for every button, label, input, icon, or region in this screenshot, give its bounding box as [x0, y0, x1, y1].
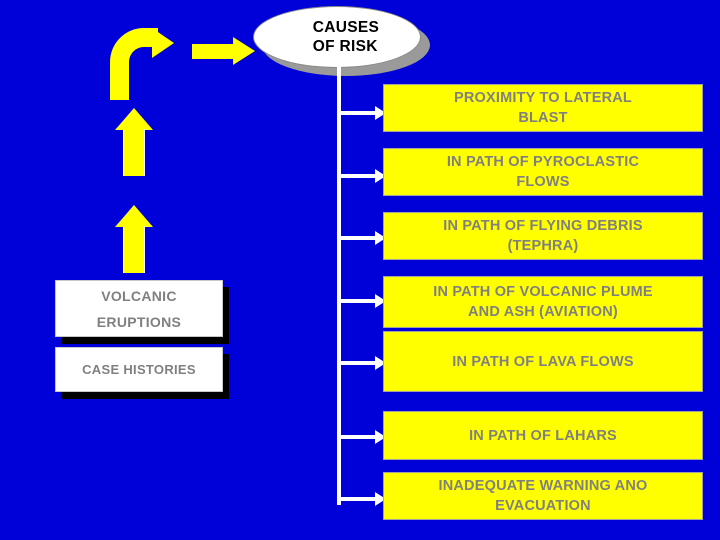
node-case-histories[interactable]: CASE HISTORIES — [55, 347, 223, 392]
up-arrow-lower-head — [115, 205, 153, 227]
risk-box-label-3: IN PATH OF FLYING DEBRIS (TEPHRA) — [437, 216, 649, 256]
curved-arrow-head — [152, 28, 174, 58]
straight-arrow-right-shaft — [192, 44, 233, 59]
risk-box-path-pyroclastic-flows[interactable]: IN PATH OF PYROCLASTIC FLOWS — [383, 148, 703, 196]
risk-box-label-7: INADEQUATE WARNING ANO EVACUATION — [432, 476, 653, 516]
connector-spine — [337, 66, 341, 505]
risk-box-label-4: IN PATH OF VOLCANIC PLUME AND ASH (AVIAT… — [427, 282, 659, 322]
node-volcanic-eruptions[interactable]: VOLCANIC ERUPTIONS — [55, 280, 223, 337]
up-arrow-upper-icon — [106, 108, 162, 176]
up-arrow-upper-head — [115, 108, 153, 130]
straight-arrow-right-head — [233, 37, 255, 65]
risk-box-label-1: PROXIMITY TO LATERAL BLAST — [448, 88, 638, 128]
branch-line-7 — [341, 497, 375, 501]
branch-line-6 — [341, 435, 375, 439]
causes-of-risk-label: CAUSES OF RISK — [295, 18, 379, 56]
up-arrow-upper-shaft — [123, 129, 145, 176]
branch-line-1 — [341, 111, 375, 115]
risk-box-path-lava-flows[interactable]: IN PATH OF LAVA FLOWS — [383, 331, 703, 392]
curved-arrow-up-right-icon — [110, 28, 182, 100]
slide-canvas: CAUSES OF RISK VOLCANIC ERUPTIONS CASE H… — [0, 0, 720, 540]
up-arrow-lower-shaft — [123, 226, 145, 273]
branch-line-2 — [341, 174, 375, 178]
branch-line-4 — [341, 299, 375, 303]
risk-box-inadequate-warning-evacuation[interactable]: INADEQUATE WARNING ANO EVACUATION — [383, 472, 703, 520]
branch-line-3 — [341, 236, 375, 240]
risk-box-label-6: IN PATH OF LAHARS — [463, 426, 623, 446]
risk-box-label-5: IN PATH OF LAVA FLOWS — [446, 352, 639, 372]
risk-box-path-flying-debris[interactable]: IN PATH OF FLYING DEBRIS (TEPHRA) — [383, 212, 703, 260]
causes-of-risk-oval[interactable]: CAUSES OF RISK — [253, 6, 421, 68]
risk-box-proximity-lateral-blast[interactable]: PROXIMITY TO LATERAL BLAST — [383, 84, 703, 132]
volcanic-eruptions-label: VOLCANIC ERUPTIONS — [97, 283, 181, 335]
case-histories-label: CASE HISTORIES — [82, 362, 196, 378]
branch-line-5 — [341, 361, 375, 365]
risk-box-path-volcanic-plume-ash[interactable]: IN PATH OF VOLCANIC PLUME AND ASH (AVIAT… — [383, 276, 703, 328]
curved-arrow-arc — [110, 28, 158, 100]
risk-box-label-2: IN PATH OF PYROCLASTIC FLOWS — [441, 152, 645, 192]
risk-box-path-lahars[interactable]: IN PATH OF LAHARS — [383, 411, 703, 460]
up-arrow-lower-icon — [106, 205, 162, 273]
